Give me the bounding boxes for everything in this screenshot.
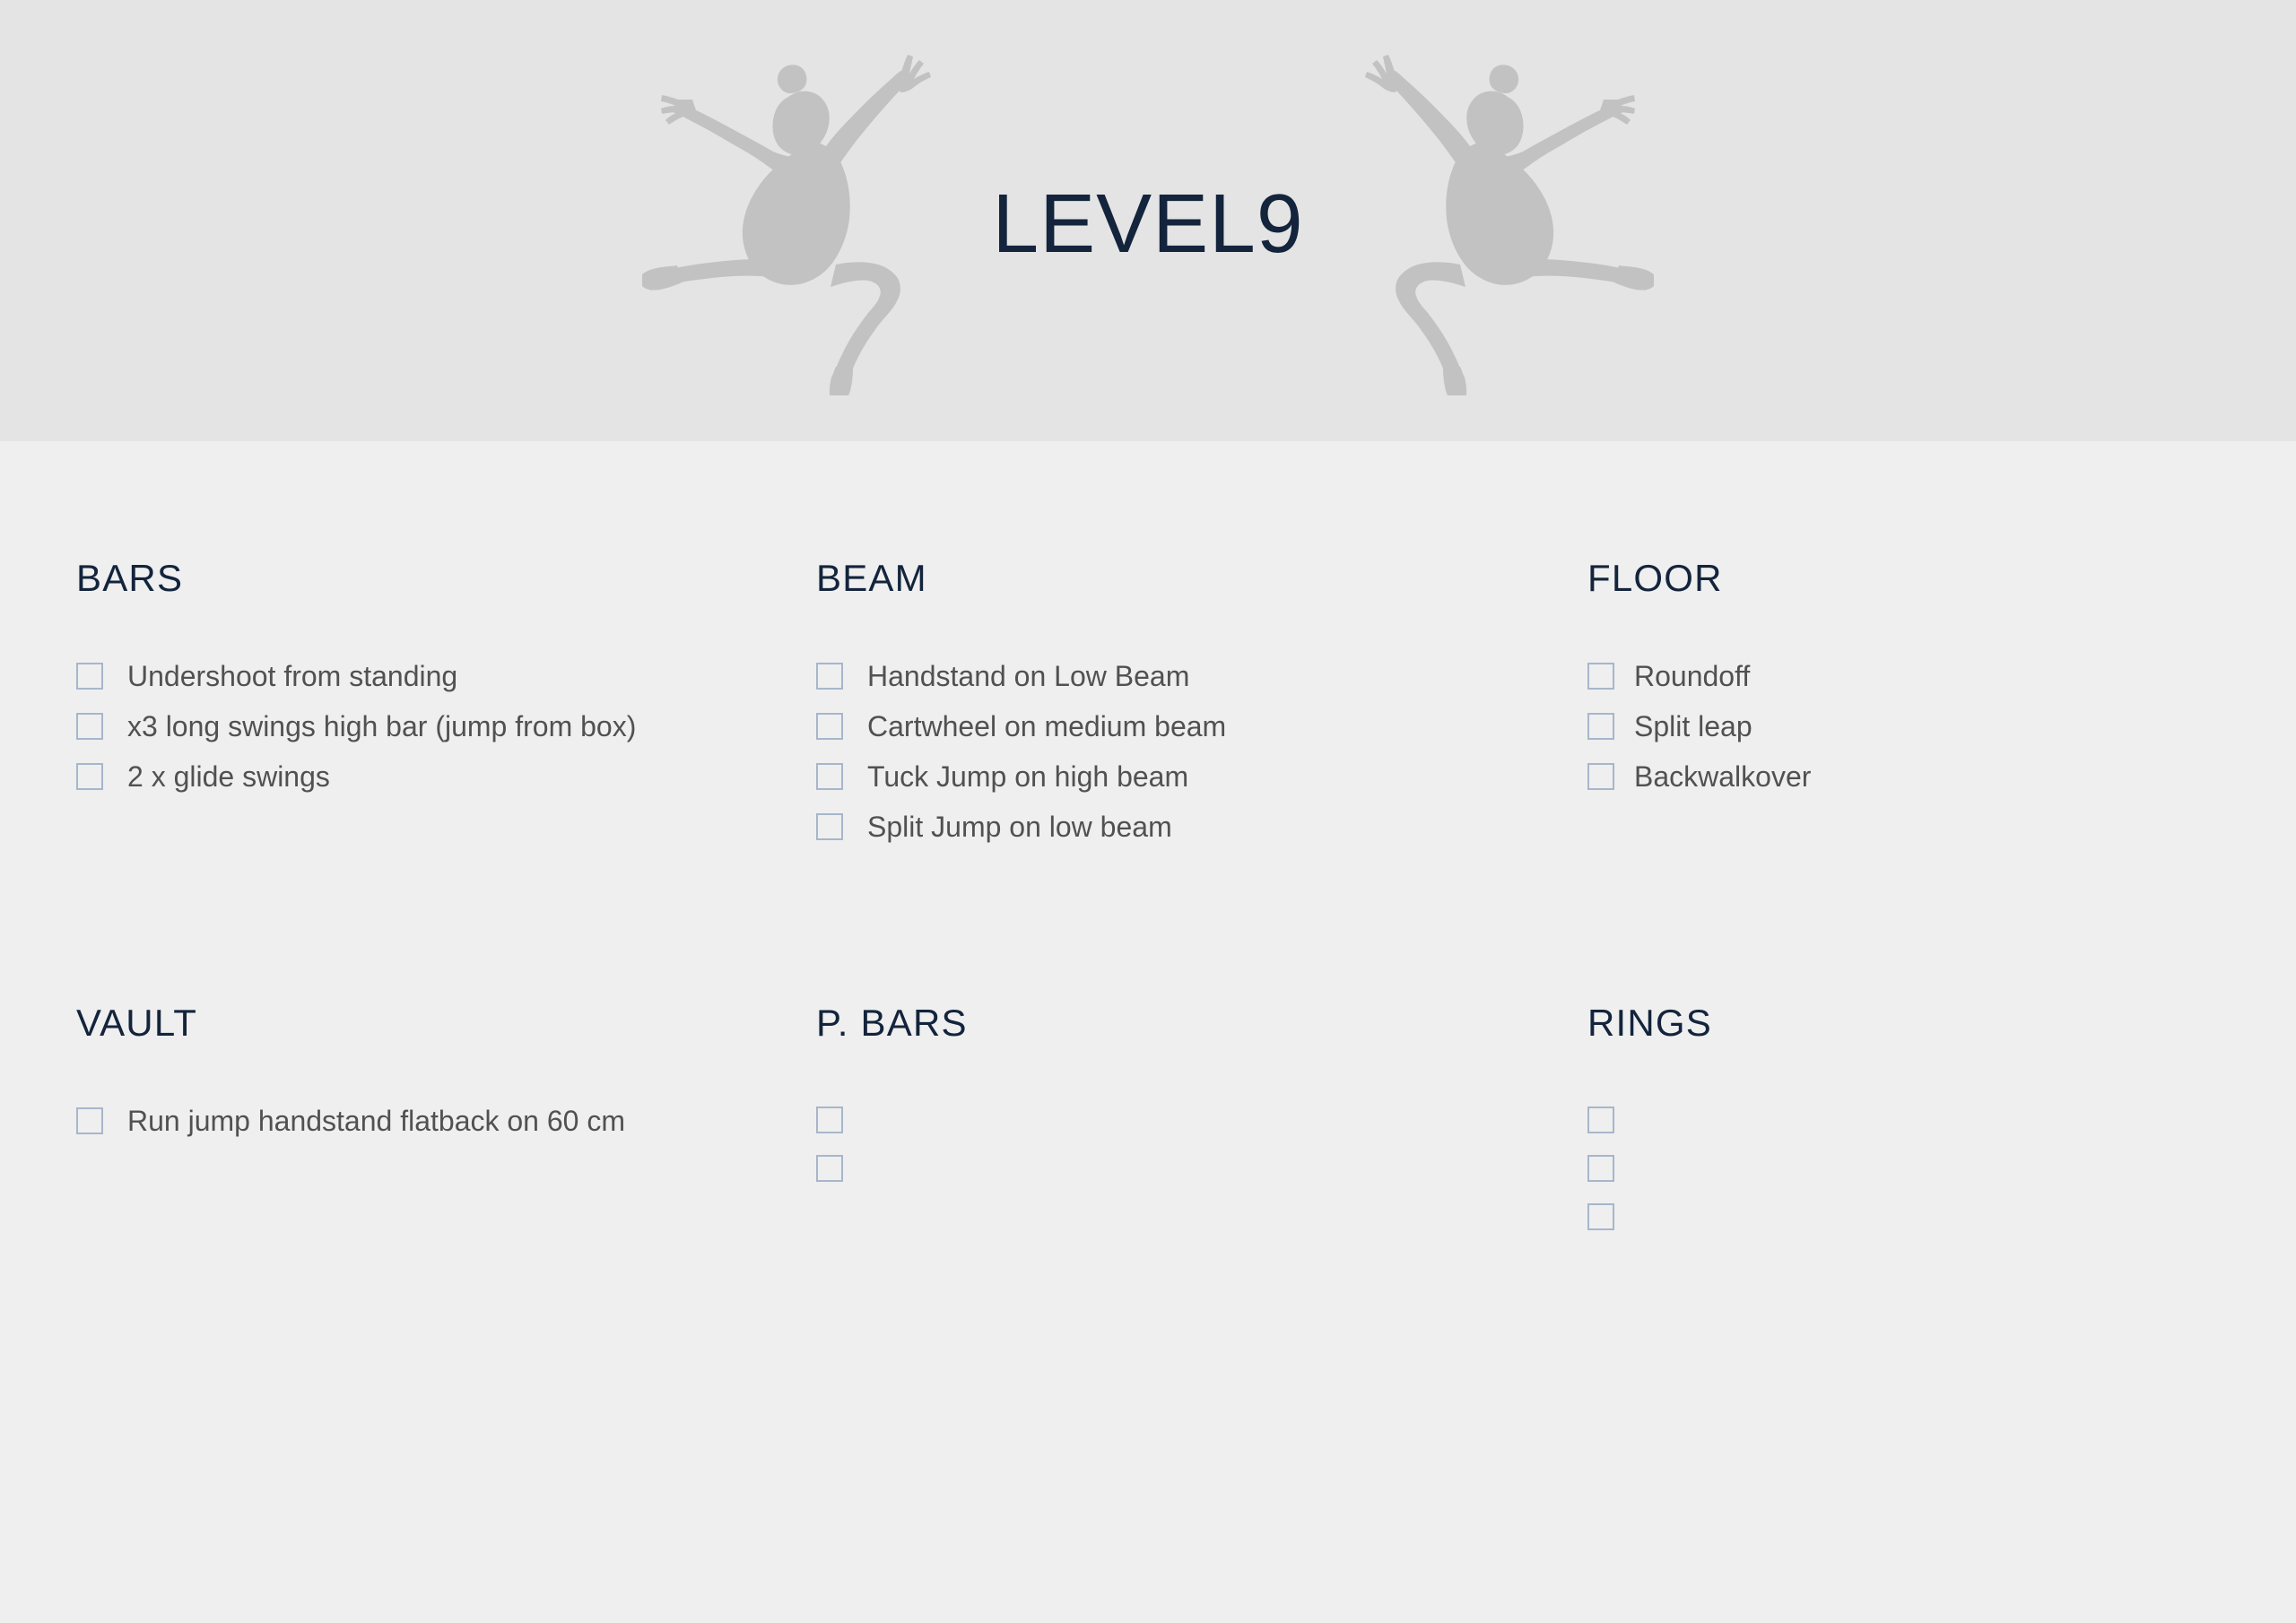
checkbox-icon[interactable]: [816, 813, 843, 840]
list-item-label: Run jump handstand flatback on 60 cm: [127, 1107, 625, 1135]
gymnast-silhouette-icon-left: [642, 46, 938, 395]
item-list-floor: Roundoff Split leap Backwalkover: [1587, 651, 2296, 802]
section-bars: BARS Undershoot from standing x3 long sw…: [76, 560, 816, 852]
list-item-label: Cartwheel on medium beam: [867, 712, 1226, 741]
section-title-vault: VAULT: [76, 1004, 816, 1042]
checklist-grid-row-1: BARS Undershoot from standing x3 long sw…: [0, 441, 2296, 852]
checkbox-icon[interactable]: [816, 1155, 843, 1182]
checkbox-icon[interactable]: [76, 1107, 103, 1134]
list-item[interactable]: [816, 1096, 1587, 1144]
section-title-floor: FLOOR: [1587, 560, 2296, 597]
checkbox-icon[interactable]: [816, 763, 843, 790]
section-floor: FLOOR Roundoff Split leap Backwalkover: [1587, 560, 2296, 852]
gymnast-silhouette-icon-right: [1358, 46, 1654, 395]
section-p-bars: P. BARS: [816, 1004, 1587, 1241]
list-item[interactable]: Undershoot from standing: [76, 651, 816, 701]
header-inner: LEVEL9: [0, 0, 2296, 441]
list-item-label: Roundoff: [1634, 662, 1750, 690]
checkbox-icon[interactable]: [1587, 713, 1614, 740]
list-item[interactable]: [1587, 1193, 2296, 1241]
list-item-label: x3 long swings high bar (jump from box): [127, 712, 636, 741]
checkbox-icon[interactable]: [76, 763, 103, 790]
item-list-bars: Undershoot from standing x3 long swings …: [76, 651, 816, 802]
list-item-label: Handstand on Low Beam: [867, 662, 1189, 690]
list-item-label: Backwalkover: [1634, 762, 1811, 791]
item-list-beam: Handstand on Low Beam Cartwheel on mediu…: [816, 651, 1587, 852]
section-title-bars: BARS: [76, 560, 816, 597]
list-item[interactable]: 2 x glide swings: [76, 751, 816, 802]
list-item-label: 2 x glide swings: [127, 762, 330, 791]
checkbox-icon[interactable]: [1587, 1155, 1614, 1182]
section-title-p-bars: P. BARS: [816, 1004, 1587, 1042]
checkbox-icon[interactable]: [1587, 1203, 1614, 1230]
checkbox-icon[interactable]: [1587, 1107, 1614, 1133]
section-rings: RINGS: [1587, 1004, 2296, 1241]
checkbox-icon[interactable]: [816, 1107, 843, 1133]
section-title-beam: BEAM: [816, 560, 1587, 597]
list-item[interactable]: [1587, 1096, 2296, 1144]
list-item-label: Split Jump on low beam: [867, 812, 1172, 841]
list-item[interactable]: x3 long swings high bar (jump from box): [76, 701, 816, 751]
checkbox-icon[interactable]: [76, 663, 103, 690]
checklist-content: BARS Undershoot from standing x3 long sw…: [0, 441, 2296, 1241]
checkbox-icon[interactable]: [816, 713, 843, 740]
list-item[interactable]: Roundoff: [1587, 651, 2296, 701]
checkbox-icon[interactable]: [1587, 663, 1614, 690]
list-item[interactable]: Split Jump on low beam: [816, 802, 1587, 852]
list-item[interactable]: Handstand on Low Beam: [816, 651, 1587, 701]
list-item-label: Undershoot from standing: [127, 662, 457, 690]
section-title-rings: RINGS: [1587, 1004, 2296, 1042]
item-list-vault: Run jump handstand flatback on 60 cm: [76, 1096, 816, 1146]
checkbox-icon[interactable]: [76, 713, 103, 740]
list-item[interactable]: Run jump handstand flatback on 60 cm: [76, 1096, 816, 1146]
item-list-p-bars: [816, 1096, 1587, 1193]
item-list-rings: [1587, 1096, 2296, 1241]
list-item-label: Split leap: [1634, 712, 1752, 741]
checklist-grid-row-2: VAULT Run jump handstand flatback on 60 …: [0, 852, 2296, 1241]
header-band: LEVEL9: [0, 0, 2296, 441]
list-item[interactable]: [816, 1144, 1587, 1193]
checkbox-icon[interactable]: [816, 663, 843, 690]
list-item[interactable]: [1587, 1144, 2296, 1193]
list-item[interactable]: Tuck Jump on high beam: [816, 751, 1587, 802]
page-title: LEVEL9: [992, 182, 1303, 265]
checkbox-icon[interactable]: [1587, 763, 1614, 790]
section-beam: BEAM Handstand on Low Beam Cartwheel on …: [816, 560, 1587, 852]
list-item[interactable]: Split leap: [1587, 701, 2296, 751]
list-item[interactable]: Backwalkover: [1587, 751, 2296, 802]
section-vault: VAULT Run jump handstand flatback on 60 …: [76, 1004, 816, 1241]
list-item-label: Tuck Jump on high beam: [867, 762, 1188, 791]
list-item[interactable]: Cartwheel on medium beam: [816, 701, 1587, 751]
